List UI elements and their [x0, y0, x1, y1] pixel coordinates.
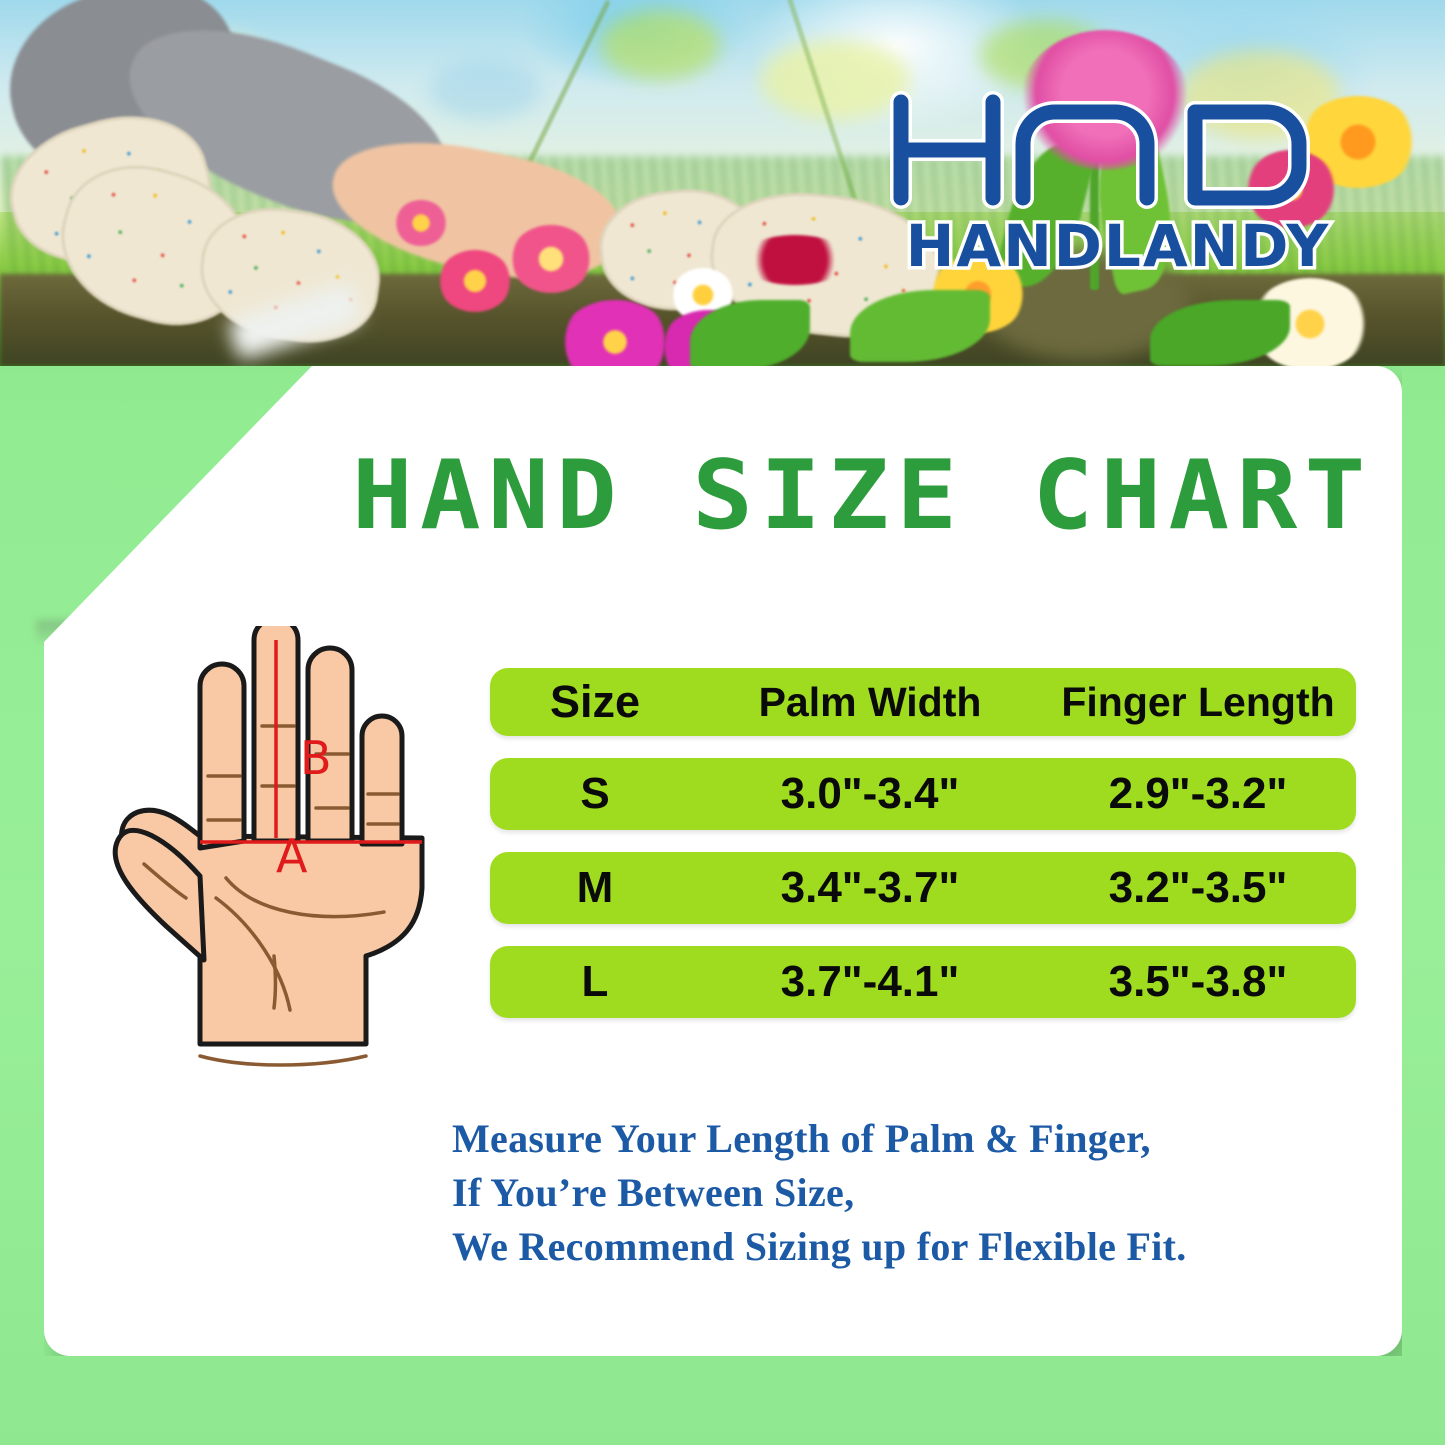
column-header-finger-length: Finger Length [1040, 679, 1356, 726]
table-row: L 3.7"-4.1" 3.5"-3.8" [490, 946, 1356, 1018]
foliage-blob [430, 60, 540, 120]
hand-size-chart-page: HANDLANDY HAND SIZE CHART [0, 0, 1445, 1445]
handlandy-logo: HANDLANDY [883, 86, 1353, 276]
column-header-size: Size [490, 676, 700, 728]
size-chart-table: Size Palm Width Finger Length S 3.0"-3.4… [490, 668, 1356, 1040]
cell-size: S [490, 769, 700, 819]
page-title: HAND SIZE CHART [352, 446, 1423, 546]
hand-measurement-diagram: B A [104, 626, 496, 1096]
sizing-note: Measure Your Length of Palm & Finger, If… [452, 1112, 1352, 1274]
note-line-1: Measure Your Length of Palm & Finger, [452, 1112, 1352, 1166]
cell-palm-width: 3.4"-3.7" [700, 863, 1040, 913]
cell-finger-length: 3.5"-3.8" [1040, 957, 1356, 1007]
note-line-3: We Recommend Sizing up for Flexible Fit. [452, 1220, 1352, 1274]
table-row: S 3.0"-3.4" 2.9"-3.2" [490, 758, 1356, 830]
blossom-pink-small [395, 200, 447, 246]
blossom-crimson [740, 235, 850, 285]
blossom-pink [438, 250, 512, 312]
cell-palm-width: 3.7"-4.1" [700, 957, 1040, 1007]
table-row: M 3.4"-3.7" 3.2"-3.5" [490, 852, 1356, 924]
foliage-blob [600, 10, 720, 80]
table-header-row: Size Palm Width Finger Length [490, 668, 1356, 736]
note-line-2: If You’re Between Size, [452, 1166, 1352, 1220]
cell-finger-length: 2.9"-3.2" [1040, 769, 1356, 819]
palm-width-label: A [276, 829, 308, 883]
cell-size: M [490, 863, 700, 913]
finger-length-label: B [300, 731, 332, 785]
cell-size: L [490, 957, 700, 1007]
cell-palm-width: 3.0"-3.4" [700, 769, 1040, 819]
cell-finger-length: 3.2"-3.5" [1040, 863, 1356, 913]
column-header-palm-width: Palm Width [700, 679, 1040, 726]
blossom-pink [510, 225, 592, 293]
logo-wordmark: HANDLANDY [906, 212, 1330, 276]
